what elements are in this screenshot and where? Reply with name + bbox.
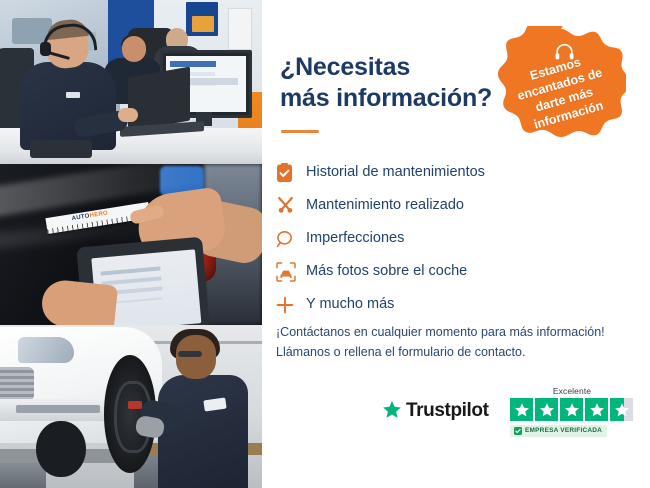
trustpilot-score: Excelente [510, 386, 634, 440]
technician-head [176, 335, 216, 379]
feature-item-maintenance-history: Historial de mantenimientos [276, 156, 636, 189]
car-headlight [18, 337, 74, 363]
feature-label: Mantenimiento realizado [306, 198, 464, 213]
feature-item-imperfections: Imperfecciones [276, 222, 636, 255]
trustpilot-logo[interactable]: Trustpilot [382, 400, 489, 420]
trustpilot-rating[interactable]: Trustpilot Excelente [382, 386, 634, 448]
wrench-screwdriver-glyph [276, 196, 295, 215]
feature-item-maintenance-done: Mantenimiento realizado [276, 189, 636, 222]
promo-banner: AUTOHERO [0, 0, 650, 488]
tablet-screen-rows [101, 266, 161, 275]
wall-sheet [228, 8, 252, 50]
trustpilot-star-icon [382, 400, 402, 420]
star-icon [614, 402, 630, 418]
feature-item-more-photos: Más fotos sobre el coche [276, 255, 636, 288]
photo-ruler-inspection: AUTOHERO [0, 164, 262, 325]
page-title-line-2: más información? [280, 84, 492, 112]
content-panel: ¿Necesitas más información? Estamos enca… [262, 0, 650, 488]
verified-company-badge: EMPRESA VERIFICADA [510, 425, 607, 437]
feature-label: Imperfecciones [306, 231, 404, 246]
title-underline-rule [281, 130, 319, 133]
ruler-brand-auto: AUTO [71, 213, 90, 222]
agent-torso [20, 62, 116, 150]
page-title: ¿Necesitas más información? [280, 52, 520, 113]
feature-label: Más fotos sobre el coche [306, 264, 467, 279]
feature-list: Historial de mantenimientos Mantenimient… [276, 156, 636, 321]
contact-copy: ¡Contáctanos en cualquier momento para m… [276, 322, 636, 363]
clipboard-check-icon [276, 162, 306, 184]
colleague-head [122, 36, 146, 62]
agent-name-badge [66, 92, 80, 98]
agent-hand [118, 108, 138, 122]
car-grille [0, 367, 34, 401]
monitor-ui-bar [170, 61, 216, 67]
rear-wheel [36, 421, 86, 477]
magnifier-icon [276, 228, 306, 250]
wall-poster-inner [192, 16, 214, 32]
contact-line-1: ¡Contáctanos en cualquier momento para m… [276, 325, 605, 339]
car-in-frame-glyph [276, 262, 296, 282]
feature-label: Historial de mantenimientos [306, 165, 485, 180]
feature-label: Y mucho más [306, 297, 394, 312]
trustpilot-rating-label: Excelente [510, 386, 634, 396]
photo-tyre-inspection [0, 325, 262, 488]
star-icon [539, 402, 555, 418]
feature-item-much-more: Y mucho más [276, 288, 636, 321]
verified-check-icon [514, 427, 522, 435]
technician-glasses [178, 351, 202, 357]
tool-cabinet-left [0, 463, 46, 488]
trustpilot-star-row [510, 398, 634, 421]
star-icon [564, 402, 580, 418]
agent-figure [20, 22, 124, 142]
technician-torso [158, 375, 248, 488]
magnifier-glyph [276, 230, 294, 248]
ruler-brand-hero: HERO [89, 210, 108, 219]
trustpilot-star-2 [535, 398, 558, 421]
car-frame-icon [276, 261, 306, 283]
trustpilot-star-3 [560, 398, 583, 421]
photo-column: AUTOHERO [0, 0, 262, 488]
inspection-tool [128, 401, 142, 409]
tools-cross-icon [276, 195, 306, 217]
clipboard-check-glyph [276, 163, 293, 183]
plus-icon [276, 294, 306, 316]
page-title-line-1: ¿Necesitas [280, 53, 410, 81]
star-icon [589, 402, 605, 418]
plus-glyph [276, 296, 294, 314]
trustpilot-star-1 [510, 398, 533, 421]
car-bumper-vent [16, 405, 100, 413]
trustpilot-star-5-partial [610, 398, 633, 421]
star-icon [514, 402, 530, 418]
contact-line-2: Llámanos o rellena el formulario de cont… [276, 345, 525, 359]
tablet-holding-hand [40, 278, 118, 325]
verified-company-label: EMPRESA VERIFICADA [525, 428, 602, 435]
support-badge: Estamos encantados de darte más informac… [496, 26, 626, 154]
trustpilot-wordmark: Trustpilot [406, 401, 489, 420]
photo-call-centre-agent [0, 0, 262, 164]
trustpilot-star-4 [585, 398, 608, 421]
desk-tablet [30, 140, 92, 158]
